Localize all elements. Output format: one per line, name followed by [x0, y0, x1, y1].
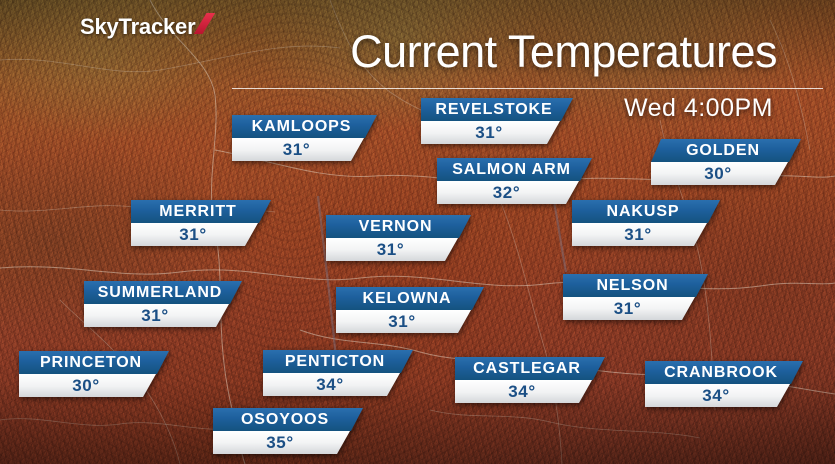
station-temperature-bar: 35°	[213, 431, 363, 454]
station-temperature-bar: 31°	[421, 121, 573, 144]
slash-icon	[194, 13, 215, 34]
station-name-bar: KELOWNA	[336, 287, 484, 310]
station-name: SUMMERLAND	[98, 285, 223, 301]
station-name-bar: VERNON	[326, 215, 471, 238]
weather-map-screen: SkyTracker Current Temperatures Wed 4:00…	[0, 0, 835, 464]
skytracker-logo: SkyTracker	[80, 13, 212, 40]
station-temperature: 34°	[508, 383, 536, 400]
station-name: VERNON	[359, 219, 433, 235]
station-temperature: 34°	[702, 387, 730, 404]
station-temperature-bar: 30°	[19, 374, 169, 397]
station-label-penticton[interactable]: PENTICTON34°	[263, 350, 413, 396]
station-label-osoyoos[interactable]: OSOYOOS35°	[213, 408, 363, 454]
station-name: PRINCETON	[40, 355, 142, 371]
station-temperature: 34°	[316, 376, 344, 393]
station-temperature-bar: 32°	[437, 181, 592, 204]
station-label-revelstoke[interactable]: REVELSTOKE31°	[421, 98, 573, 144]
timestamp: Wed 4:00PM	[624, 94, 773, 123]
station-temperature: 31°	[377, 241, 405, 258]
title-divider	[232, 88, 823, 89]
station-temperature: 32°	[493, 184, 521, 201]
station-temperature: 31°	[475, 124, 503, 141]
station-label-nakusp[interactable]: NAKUSP31°	[572, 200, 720, 246]
station-name-bar: NAKUSP	[572, 200, 720, 223]
station-temperature: 35°	[266, 434, 294, 451]
station-temperature-bar: 34°	[263, 373, 413, 396]
station-temperature: 30°	[72, 377, 100, 394]
station-label-merritt[interactable]: MERRITT31°	[131, 200, 271, 246]
station-label-salmon-arm[interactable]: SALMON ARM32°	[437, 158, 592, 204]
station-label-kamloops[interactable]: KAMLOOPS31°	[232, 115, 377, 161]
station-temperature: 31°	[141, 307, 169, 324]
station-name-bar: GOLDEN	[651, 139, 801, 162]
station-label-cranbrook[interactable]: CRANBROOK34°	[645, 361, 803, 407]
station-label-vernon[interactable]: VERNON31°	[326, 215, 471, 261]
station-label-golden[interactable]: GOLDEN30°	[651, 139, 801, 185]
station-name: CRANBROOK	[664, 365, 778, 381]
station-temperature: 31°	[388, 313, 416, 330]
station-name: OSOYOOS	[241, 412, 329, 428]
station-label-summerland[interactable]: SUMMERLAND31°	[84, 281, 242, 327]
station-temperature-bar: 31°	[336, 310, 484, 333]
station-name: PENTICTON	[285, 354, 385, 370]
station-temperature: 30°	[704, 165, 732, 182]
station-name: KELOWNA	[363, 291, 452, 307]
page-title: Current Temperatures	[350, 26, 777, 78]
station-name: GOLDEN	[686, 143, 760, 159]
station-temperature: 31°	[614, 300, 642, 317]
station-name-bar: SUMMERLAND	[84, 281, 242, 304]
station-temperature-bar: 31°	[84, 304, 242, 327]
station-name-bar: PENTICTON	[263, 350, 413, 373]
station-label-kelowna[interactable]: KELOWNA31°	[336, 287, 484, 333]
logo-text: SkyTracker	[80, 14, 195, 40]
station-name-bar: KAMLOOPS	[232, 115, 377, 138]
station-label-princeton[interactable]: PRINCETON30°	[19, 351, 169, 397]
station-name: SALMON ARM	[452, 162, 571, 178]
station-temperature: 31°	[624, 226, 652, 243]
station-name-bar: REVELSTOKE	[421, 98, 573, 121]
station-name: REVELSTOKE	[435, 102, 552, 118]
station-temperature-bar: 31°	[232, 138, 377, 161]
station-name: NELSON	[596, 278, 668, 294]
station-temperature-bar: 31°	[326, 238, 471, 261]
station-name-bar: CRANBROOK	[645, 361, 803, 384]
station-name-bar: PRINCETON	[19, 351, 169, 374]
station-temperature-bar: 34°	[455, 380, 605, 403]
station-label-castlegar[interactable]: CASTLEGAR34°	[455, 357, 605, 403]
station-name-bar: CASTLEGAR	[455, 357, 605, 380]
station-name: CASTLEGAR	[473, 361, 581, 377]
station-temperature: 31°	[179, 226, 207, 243]
station-temperature-bar: 31°	[563, 297, 708, 320]
station-label-nelson[interactable]: NELSON31°	[563, 274, 708, 320]
station-name-bar: MERRITT	[131, 200, 271, 223]
station-temperature: 31°	[283, 141, 311, 158]
station-name-bar: OSOYOOS	[213, 408, 363, 431]
station-temperature-bar: 31°	[572, 223, 720, 246]
station-name-bar: SALMON ARM	[437, 158, 592, 181]
station-temperature-bar: 34°	[645, 384, 803, 407]
station-name: KAMLOOPS	[252, 119, 352, 135]
station-name: NAKUSP	[607, 204, 680, 220]
station-name: MERRITT	[159, 204, 236, 220]
station-temperature-bar: 30°	[651, 162, 801, 185]
station-temperature-bar: 31°	[131, 223, 271, 246]
station-name-bar: NELSON	[563, 274, 708, 297]
